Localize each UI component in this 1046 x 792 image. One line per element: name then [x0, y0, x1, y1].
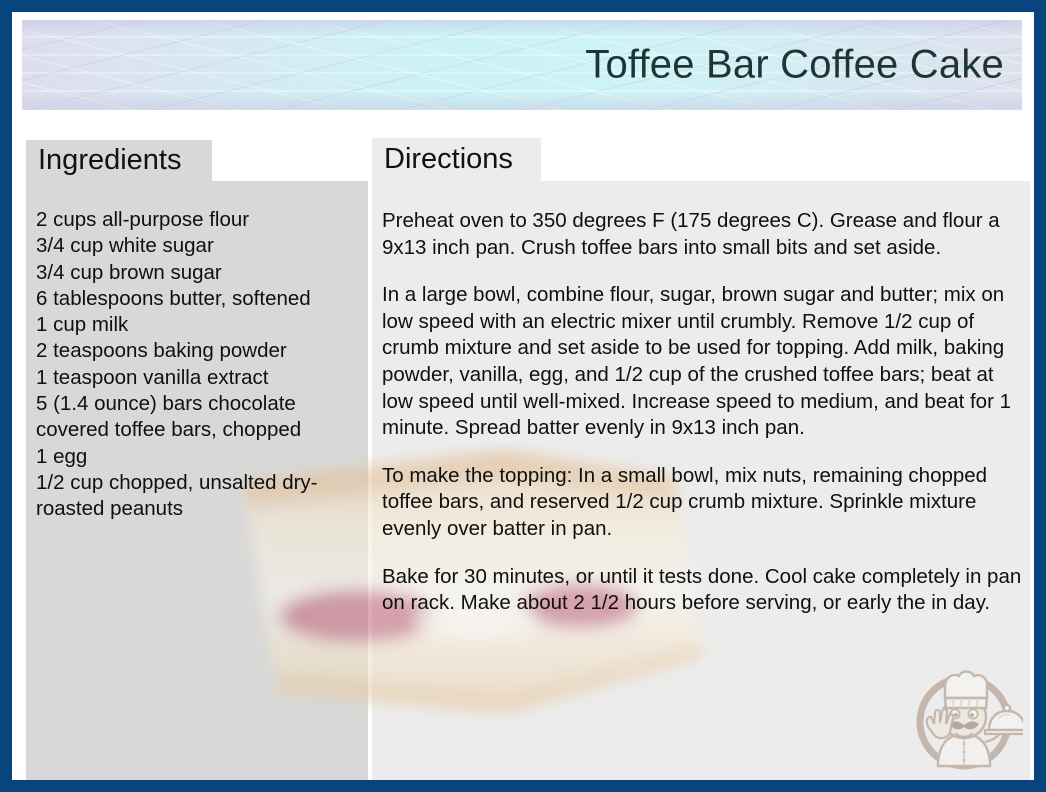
- recipe-card: Toffee Bar Coffee Cake: [0, 0, 1046, 792]
- directions-steps: Preheat oven to 350 degrees F (175 degre…: [382, 208, 1027, 638]
- list-item: 1 teaspoon vanilla extract: [36, 365, 366, 391]
- ingredients-list: 2 cups all-purpose flour 3/4 cup white s…: [36, 207, 366, 523]
- list-item: 2 teaspoons baking powder: [36, 338, 366, 364]
- directions-heading: Directions: [384, 143, 513, 176]
- direction-step: To make the topping: In a small bowl, mi…: [382, 463, 1027, 543]
- direction-step: In a large bowl, combine flour, sugar, b…: [382, 282, 1027, 442]
- list-item: 1 egg: [36, 444, 366, 470]
- list-item: 2 cups all-purpose flour: [36, 207, 366, 233]
- list-item: 3/4 cup brown sugar: [36, 260, 366, 286]
- tab-ingredients[interactable]: Ingredients: [26, 140, 212, 181]
- list-item: 1 cup milk: [36, 312, 366, 338]
- page-title: Toffee Bar Coffee Cake: [585, 43, 1004, 88]
- list-item: 3/4 cup white sugar: [36, 233, 366, 259]
- list-item: 6 tablespoons butter, softened: [36, 286, 366, 312]
- list-item: 5 (1.4 ounce) bars chocolate covered tof…: [36, 391, 366, 444]
- tab-directions[interactable]: Directions: [372, 138, 541, 181]
- ingredients-heading: Ingredients: [38, 144, 182, 177]
- direction-step: Bake for 30 minutes, or until it tests d…: [382, 564, 1027, 617]
- direction-step: Preheat oven to 350 degrees F (175 degre…: [382, 208, 1027, 261]
- list-item: 1/2 cup chopped, unsalted dry-roasted pe…: [36, 470, 366, 523]
- title-banner: Toffee Bar Coffee Cake: [22, 20, 1022, 110]
